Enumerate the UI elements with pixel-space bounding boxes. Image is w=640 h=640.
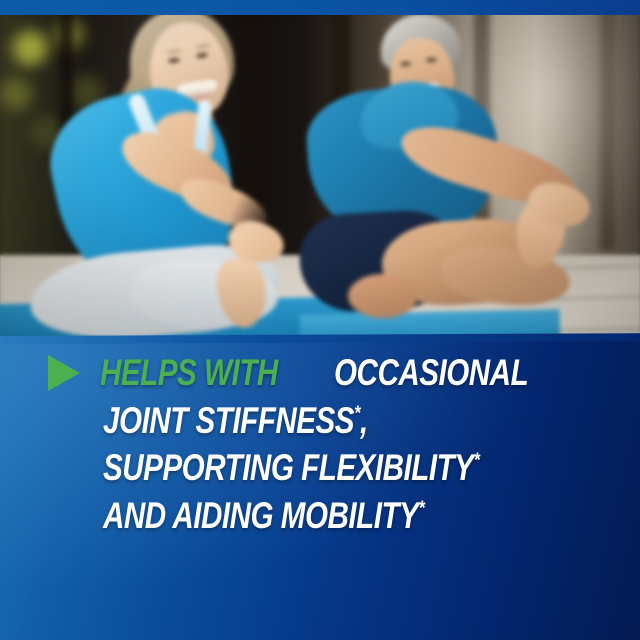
headline-line-4: AND AIDING MOBILITY*	[48, 497, 614, 535]
top-blue-strip	[0, 0, 640, 15]
headline-white-text: SUPPORTING FLEXIBILITY*	[103, 449, 479, 487]
man-knee	[348, 274, 418, 318]
photo-subject-man	[320, 0, 640, 348]
headline-white-text: JOINT STIFFNESS*,	[103, 402, 368, 440]
headline-line-2-trailing: ,	[360, 400, 368, 441]
asterisk-superscript: *	[418, 497, 424, 520]
headline-line-4-text: AND AIDING MOBILITY	[103, 495, 418, 536]
ad-banner: HELPS WITH OCCASIONAL JOINT STIFFNESS*, …	[0, 0, 640, 640]
headline-copy-block: HELPS WITH OCCASIONAL JOINT STIFFNESS*, …	[0, 354, 640, 543]
headline-line-3-text: SUPPORTING FLEXIBILITY	[103, 447, 473, 488]
play-triangle-icon	[48, 355, 80, 391]
headline-green-text: HELPS WITH	[100, 354, 278, 392]
headline-line-3: SUPPORTING FLEXIBILITY*	[48, 449, 614, 487]
asterisk-superscript: *	[473, 449, 479, 472]
message-panel: HELPS WITH OCCASIONAL JOINT STIFFNESS*, …	[0, 338, 640, 640]
headline-line-1: HELPS WITH OCCASIONAL	[48, 354, 614, 392]
headline-white-text: AND AIDING MOBILITY*	[103, 497, 424, 535]
hero-photo	[0, 0, 640, 348]
photo-subject-woman	[0, 0, 330, 348]
headline-line-2: JOINT STIFFNESS*,	[48, 402, 614, 440]
headline-line-2-text: JOINT STIFFNESS	[103, 400, 354, 441]
headline-white-text: OCCASIONAL	[334, 354, 528, 392]
